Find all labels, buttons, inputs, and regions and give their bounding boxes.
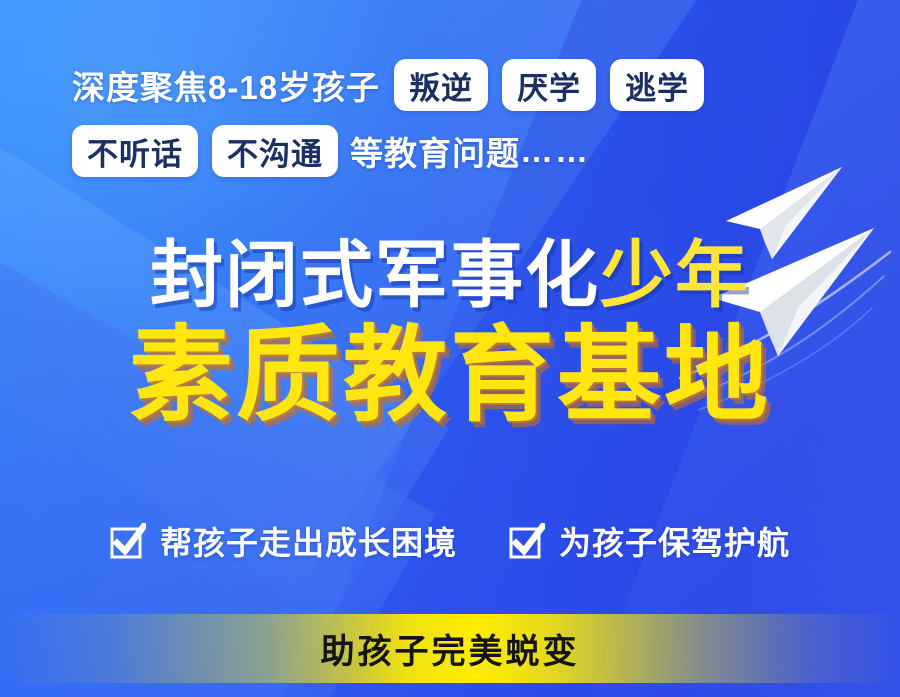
feature-list: 帮孩子走出成长困境 为孩子保驾护航	[0, 518, 900, 564]
tag-pill-disobedient[interactable]: 不听话	[72, 125, 198, 177]
footer-banner: 助孩子完美蜕变	[0, 614, 900, 683]
headline-tag-rows: 深度聚焦8-18岁孩子 叛逆 厌学 逃学 不听话 不沟通 等教育问题 ……	[0, 56, 900, 180]
headline-lead-text: 深度聚焦8-18岁孩子	[72, 61, 380, 109]
headline-ellipsis: ……	[520, 132, 590, 170]
headline-trail-text: 等教育问题	[350, 127, 520, 175]
title-line-1: 封闭式军事化少年	[0, 238, 900, 313]
tag-pill-no-communication[interactable]: 不沟通	[212, 125, 338, 177]
footer-text: 助孩子完美蜕变	[321, 624, 580, 673]
tag-pill-rebellious[interactable]: 叛逆	[394, 59, 488, 111]
feature-item: 帮孩子走出成长困境	[110, 518, 457, 564]
title-line-2: 素质教育基地	[0, 323, 900, 429]
check-square-icon	[509, 523, 545, 559]
feature-item: 为孩子保驾护航	[509, 518, 790, 564]
feature-label: 帮孩子走出成长困境	[160, 518, 457, 564]
check-square-icon	[110, 523, 146, 559]
feature-label: 为孩子保驾护航	[559, 518, 790, 564]
title-line-1-white: 封闭式军事化	[150, 235, 600, 316]
headline-row-2: 不听话 不沟通 等教育问题 ……	[72, 122, 900, 180]
headline-row-1: 深度聚焦8-18岁孩子 叛逆 厌学 逃学	[72, 56, 900, 114]
title-line-1-yellow: 少年	[600, 235, 750, 316]
tag-pill-school-aversion[interactable]: 厌学	[502, 59, 596, 111]
main-title-block: 封闭式军事化少年 素质教育基地	[0, 238, 900, 429]
promo-banner: 深度聚焦8-18岁孩子 叛逆 厌学 逃学 不听话 不沟通 等教育问题 …… 封闭…	[0, 0, 900, 697]
tag-pill-truancy[interactable]: 逃学	[610, 59, 704, 111]
